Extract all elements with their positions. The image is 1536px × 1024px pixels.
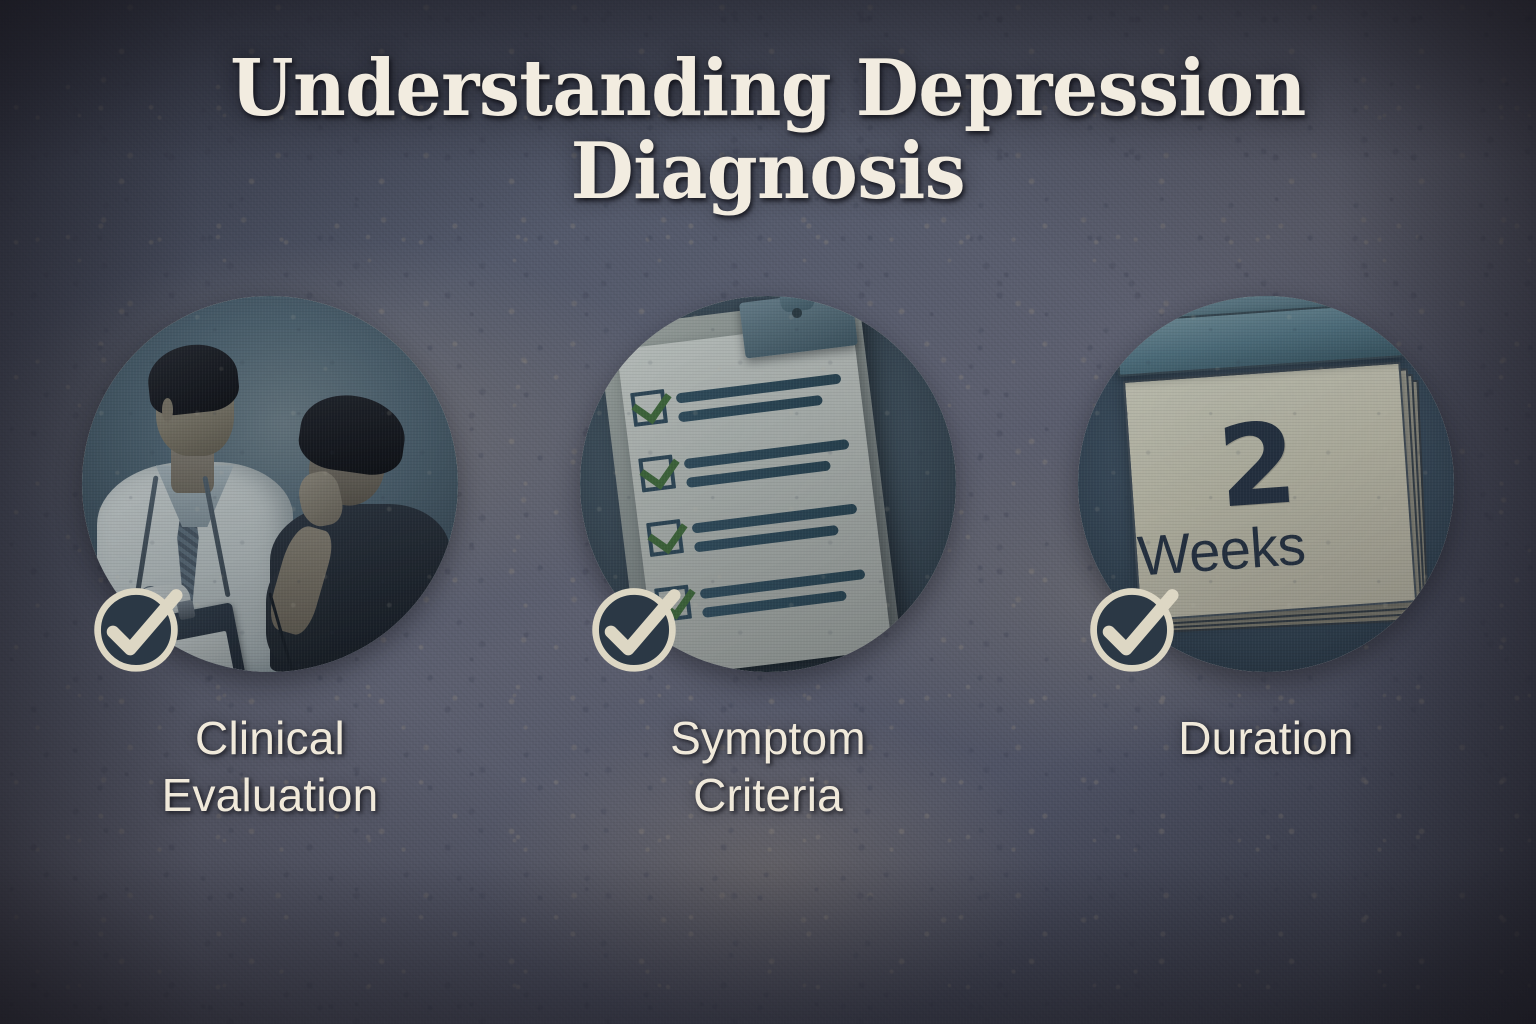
title-line-1: Understanding Depression [54, 48, 1482, 131]
caption-clinical-evaluation: Clinical Evaluation [162, 710, 379, 824]
patient-figure [262, 401, 450, 672]
check-badge-symptom-criteria [586, 580, 682, 676]
step-symptom-criteria[interactable]: Symptom Criteria [580, 296, 956, 824]
medallion-duration: 2 Weeks [1078, 296, 1454, 672]
caption-line-1: Duration [1178, 710, 1353, 767]
checklist-item [646, 496, 868, 566]
medallion-symptom-criteria [580, 296, 956, 672]
checklist-item [638, 431, 860, 501]
caption-line-2: Criteria [670, 767, 866, 824]
checkbox-checked-icon [630, 389, 668, 427]
caption-line-1: Symptom [670, 710, 866, 767]
caption-duration: Duration [1178, 710, 1353, 767]
check-badge-clinical-evaluation [88, 580, 184, 676]
title-line-2: Diagnosis [54, 131, 1482, 214]
page-title: Understanding Depression Diagnosis [0, 48, 1536, 213]
check-badge-duration [1084, 580, 1180, 676]
caption-line-1: Clinical [162, 710, 379, 767]
checkbox-checked-icon [638, 454, 676, 492]
calendar-number: 2 [1215, 412, 1298, 520]
steps-row: Clinical Evaluation [0, 296, 1536, 824]
infographic-canvas: Understanding Depression Diagnosis [0, 0, 1536, 1024]
checkbox-checked-icon [646, 519, 684, 557]
caption-line-2: Evaluation [162, 767, 379, 824]
step-clinical-evaluation[interactable]: Clinical Evaluation [82, 296, 458, 824]
caption-symptom-criteria: Symptom Criteria [670, 710, 866, 824]
medallion-clinical-evaluation [82, 296, 458, 672]
step-duration[interactable]: 2 Weeks [1078, 296, 1454, 824]
calendar-unit: Weeks [1125, 517, 1307, 585]
